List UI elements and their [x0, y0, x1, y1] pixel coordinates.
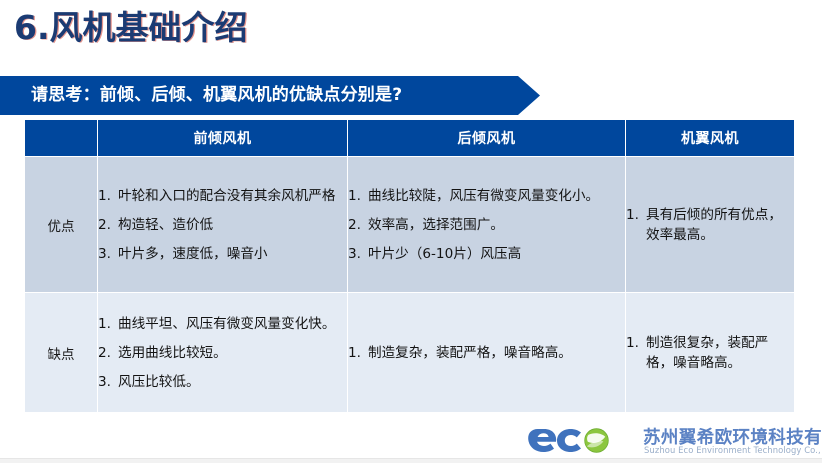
cell-pros-forward-curved: 叶轮和入口的配合没有其余风机严格 构造轻、造价低 叶片多，速度低，噪音小 — [98, 157, 348, 293]
list-cons-backward-curved: 制造复杂，装配严格，噪音略高。 — [348, 343, 625, 363]
list-cons-forward-curved: 曲线平坦、风压有微变风量变化快。 选用曲线比较短。 风压比较低。 — [98, 314, 347, 392]
table-row-pros: 优点 叶轮和入口的配合没有其余风机严格 构造轻、造价低 叶片多，速度低，噪音小 … — [25, 157, 795, 293]
table-row-cons: 缺点 曲线平坦、风压有微变风量变化快。 选用曲线比较短。 风压比较低。 制造复杂… — [25, 293, 795, 413]
table-header: 前倾风机 后倾风机 机翼风机 — [25, 120, 795, 157]
table-header-row: 前倾风机 后倾风机 机翼风机 — [25, 120, 795, 157]
table-body: 优点 叶轮和入口的配合没有其余风机严格 构造轻、造价低 叶片多，速度低，噪音小 … — [25, 157, 795, 413]
list-item: 选用曲线比较短。 — [118, 343, 347, 363]
column-header-forward-curved: 前倾风机 — [98, 120, 348, 157]
bottom-strip — [0, 458, 822, 463]
list-item: 效率高，选择范围广。 — [368, 215, 625, 235]
eco-logo-icon — [528, 422, 640, 458]
company-logo: 苏州翼希欧环境科技有限公司 Suzhou Eco Environment Tec… — [528, 422, 818, 460]
list-item: 构造轻、造价低 — [118, 215, 347, 235]
list-item: 制造很复杂，装配严格，噪音略高。 — [646, 333, 794, 373]
list-item: 曲线比较陡，风压有微变风量变化小。 — [368, 186, 625, 206]
list-item: 叶片少（6-10片）风压高 — [368, 244, 625, 264]
list-cons-airfoil: 制造很复杂，装配严格，噪音略高。 — [626, 333, 794, 373]
column-header-backward-curved: 后倾风机 — [348, 120, 626, 157]
company-name-en: Suzhou Eco Environment Technology Co., L… — [644, 445, 822, 455]
cell-cons-forward-curved: 曲线平坦、风压有微变风量变化快。 选用曲线比较短。 风压比较低。 — [98, 293, 348, 413]
cell-pros-backward-curved: 曲线比较陡，风压有微变风量变化小。 效率高，选择范围广。 叶片少（6-10片）风… — [348, 157, 626, 293]
fan-comparison-table: 前倾风机 后倾风机 机翼风机 优点 叶轮和入口的配合没有其余风机严格 构造轻、造… — [24, 119, 795, 413]
list-pros-airfoil: 具有后倾的所有优点，效率最高。 — [626, 205, 794, 245]
question-banner-label: 请思考：前倾、后倾、机翼风机的优缺点分别是? — [31, 76, 402, 115]
row-label-pros: 优点 — [25, 157, 98, 293]
question-banner: 请思考：前倾、后倾、机翼风机的优缺点分别是? — [0, 76, 540, 115]
cell-cons-airfoil: 制造很复杂，装配严格，噪音略高。 — [626, 293, 795, 413]
column-header-airfoil: 机翼风机 — [626, 120, 795, 157]
list-item: 叶轮和入口的配合没有其余风机严格 — [118, 186, 347, 206]
table-corner-cell — [25, 120, 98, 157]
page-title: 6.风机基础介绍 — [14, 7, 248, 49]
list-pros-forward-curved: 叶轮和入口的配合没有其余风机严格 构造轻、造价低 叶片多，速度低，噪音小 — [98, 186, 347, 264]
list-item: 具有后倾的所有优点，效率最高。 — [646, 205, 794, 245]
list-pros-backward-curved: 曲线比较陡，风压有微变风量变化小。 效率高，选择范围广。 叶片少（6-10片）风… — [348, 186, 625, 264]
row-label-cons: 缺点 — [25, 293, 98, 413]
list-item: 叶片多，速度低，噪音小 — [118, 244, 347, 264]
cell-cons-backward-curved: 制造复杂，装配严格，噪音略高。 — [348, 293, 626, 413]
cell-pros-airfoil: 具有后倾的所有优点，效率最高。 — [626, 157, 795, 293]
list-item: 曲线平坦、风压有微变风量变化快。 — [118, 314, 347, 334]
list-item: 制造复杂，装配严格，噪音略高。 — [368, 343, 625, 363]
list-item: 风压比较低。 — [118, 372, 347, 392]
